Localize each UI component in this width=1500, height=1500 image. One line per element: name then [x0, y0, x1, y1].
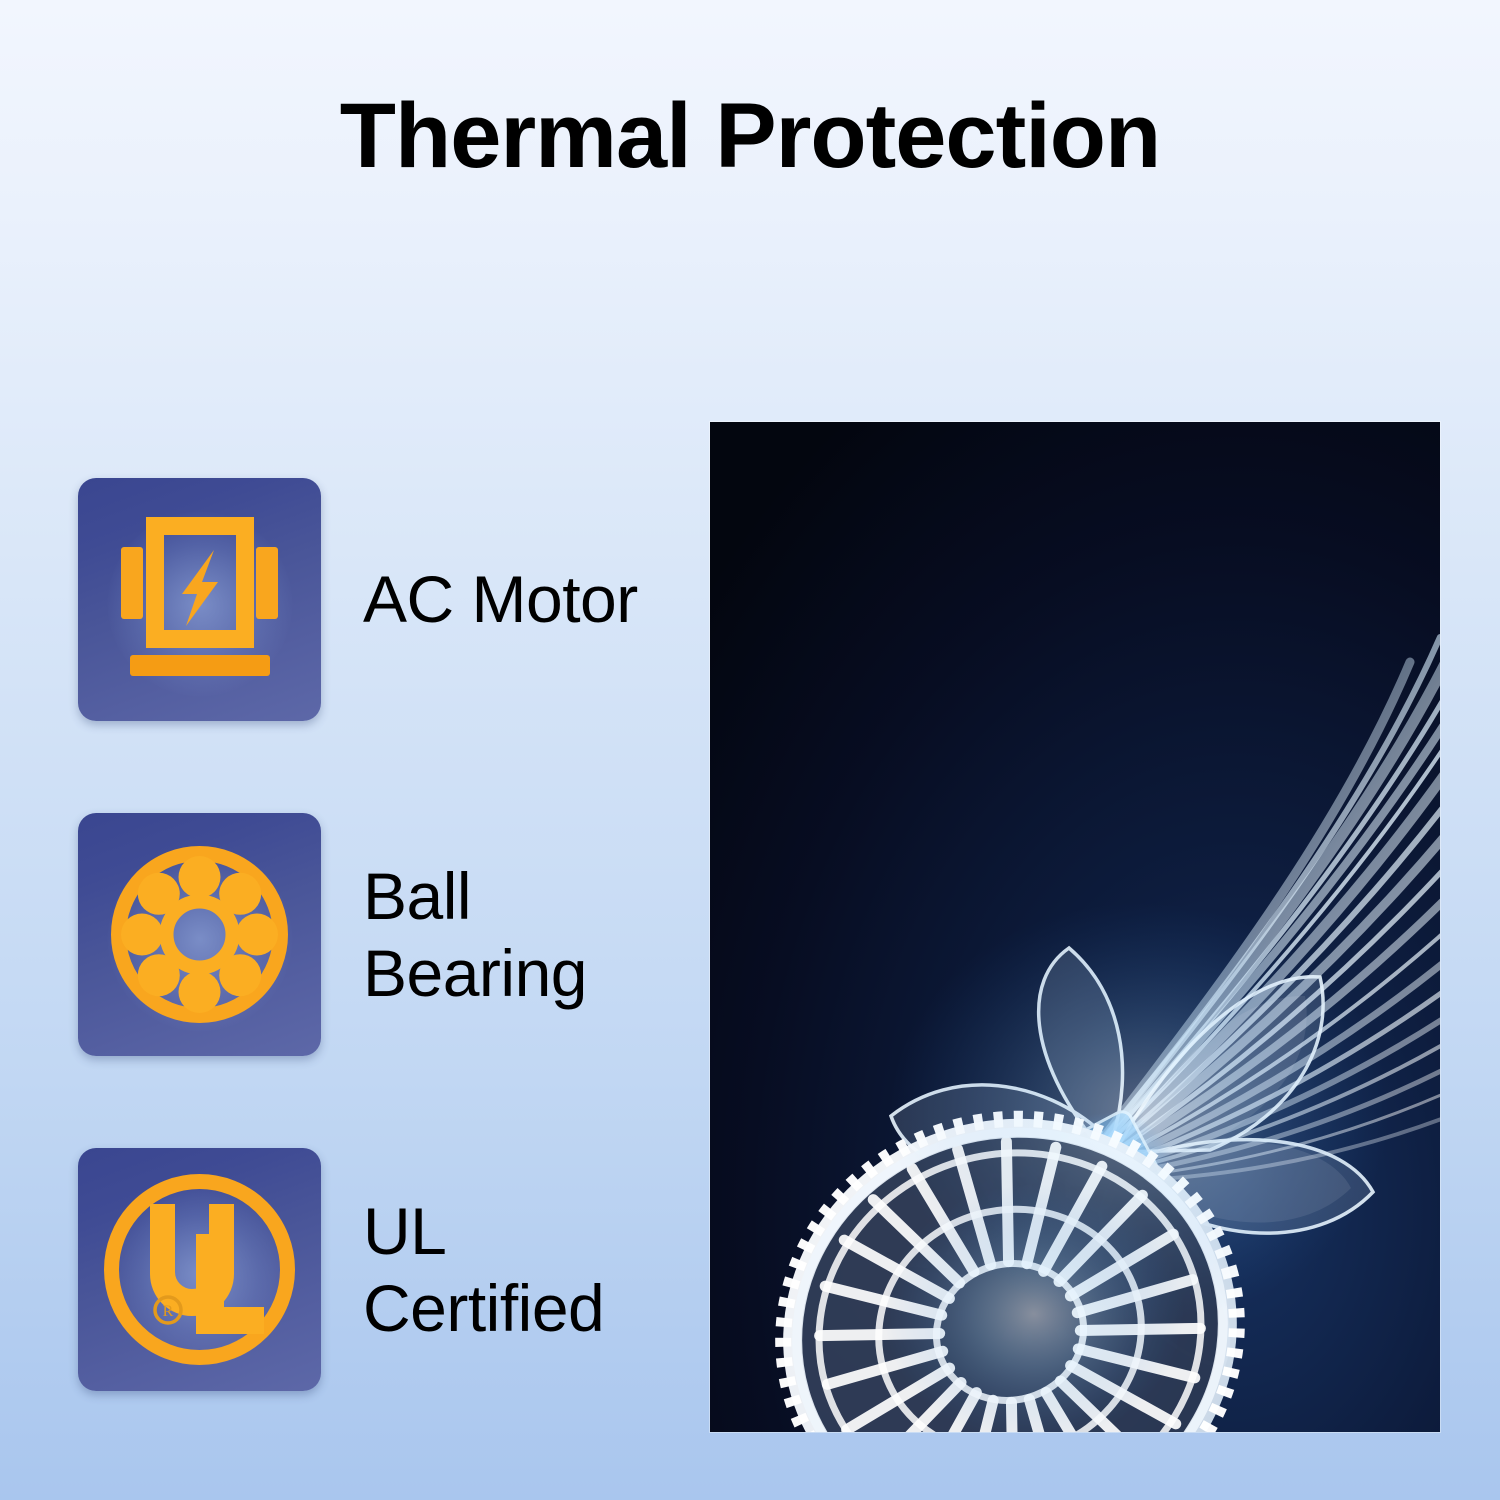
feature-label-ac-motor: AC Motor: [363, 561, 638, 638]
feature-label-ball-bearing: Ball Bearing: [363, 858, 587, 1011]
feature-item-ac-motor: AC Motor: [78, 478, 638, 721]
infographic-page: Thermal Protection AC Motor: [0, 0, 1500, 1500]
ac-motor-icon: [78, 478, 321, 721]
ac-motor-icon-tile: [78, 478, 321, 721]
feature-item-ball-bearing: Ball Bearing: [78, 813, 587, 1056]
ul-certified-icon: R: [78, 1148, 321, 1391]
feature-item-ul-certified: R UL Certified: [78, 1148, 604, 1391]
fan-motor-airflow-illustration: [710, 422, 1440, 1432]
page-title: Thermal Protection: [0, 88, 1500, 185]
svg-text:R: R: [163, 1303, 174, 1320]
fan-motor-airflow-photo: [710, 422, 1440, 1432]
ball-bearing-icon: [78, 813, 321, 1056]
ball-bearing-icon-tile: [78, 813, 321, 1056]
ul-certified-icon-tile: R: [78, 1148, 321, 1391]
feature-label-ul-certified: UL Certified: [363, 1193, 604, 1346]
